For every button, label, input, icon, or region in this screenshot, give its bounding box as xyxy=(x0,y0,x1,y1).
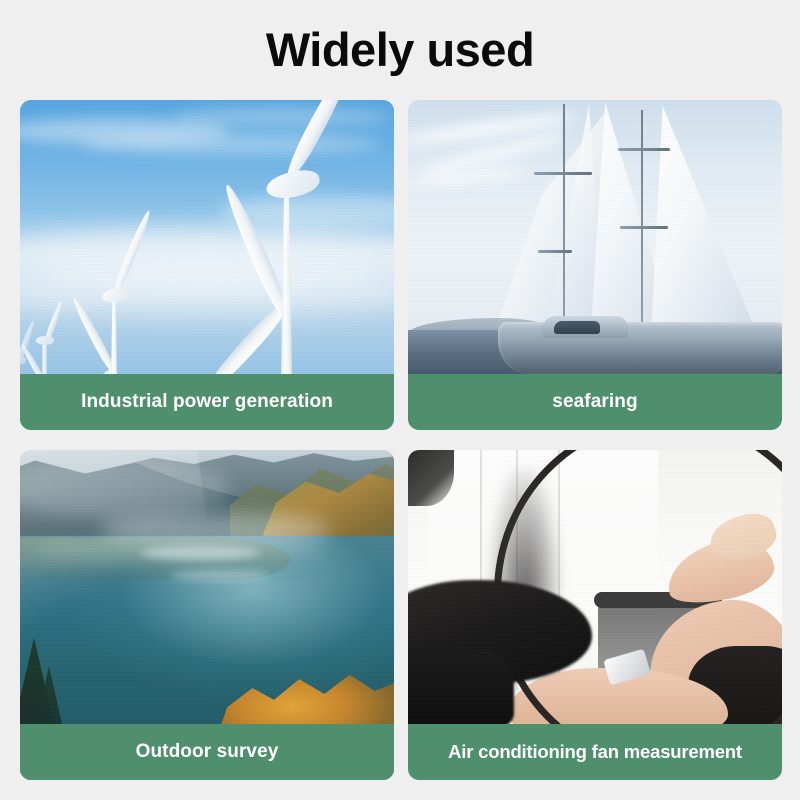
use-case-card-grid: Industrial power generation xyxy=(20,100,782,780)
card-caption-outdoor-survey: Outdoor survey xyxy=(20,724,394,780)
turbine-hub xyxy=(264,167,322,203)
use-case-card-industrial-power-generation[interactable]: Industrial power generation xyxy=(20,100,394,430)
turbine-blade xyxy=(110,209,153,298)
turbine-hub xyxy=(20,356,26,365)
turbine-hub xyxy=(101,286,133,305)
card-caption-air-conditioning-fan-measurement: Air conditioning fan measurement xyxy=(408,724,782,780)
card-caption-industrial-power-generation: Industrial power generation xyxy=(20,374,394,430)
yacht-mast xyxy=(641,110,643,356)
yacht-mizzen-sail xyxy=(640,106,766,354)
fan-stand xyxy=(408,646,514,730)
fan-motion-blur xyxy=(490,468,560,598)
use-case-card-air-conditioning-fan-measurement[interactable]: Air conditioning fan measurement xyxy=(408,450,782,780)
yacht-spreader xyxy=(618,148,670,151)
widely-used-page: Widely used xyxy=(0,0,800,800)
card-caption-seafaring: seafaring xyxy=(408,374,782,430)
yacht-spreader xyxy=(620,226,668,229)
mist-layer xyxy=(30,536,330,562)
yacht-hull xyxy=(498,322,782,374)
water-reflection xyxy=(170,570,270,581)
yacht-spreader xyxy=(534,172,592,175)
page-title: Widely used xyxy=(0,22,800,78)
yacht-window xyxy=(554,321,600,334)
use-case-card-seafaring[interactable]: seafaring xyxy=(408,100,782,430)
yacht-spreader xyxy=(538,250,572,253)
use-case-card-outdoor-survey[interactable]: Outdoor survey xyxy=(20,450,394,780)
